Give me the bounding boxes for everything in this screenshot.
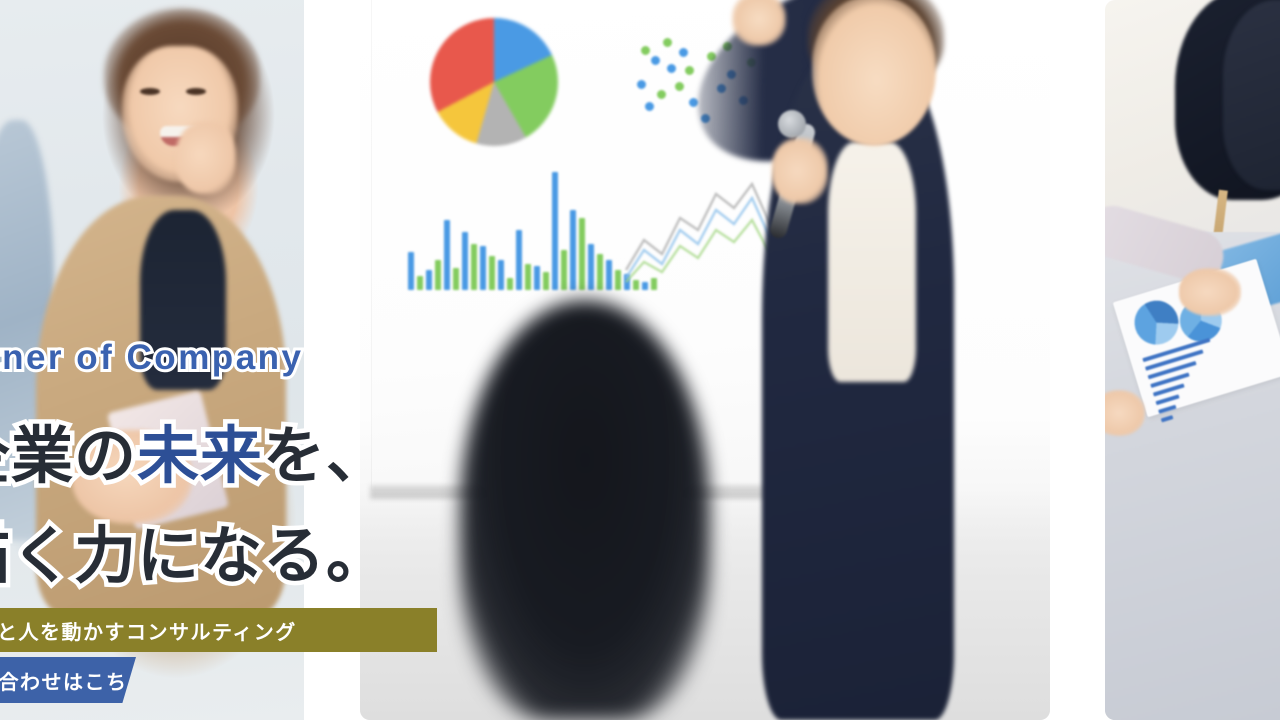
- hero-tagline-band: 経営と人を動かすコンサルティング: [0, 608, 437, 652]
- screen-pie-chart: [430, 18, 558, 146]
- contact-cta-button[interactable]: お問い合わせはこちら: [0, 657, 136, 703]
- hero-headline-line-2: 描く力になる。: [0, 505, 389, 595]
- center-photo-panel: [360, 0, 1050, 720]
- hero-headline-line-1: 企業の未来を、: [0, 405, 389, 495]
- document-pie-chart-left: [1129, 295, 1184, 350]
- left-person-eye-left: [140, 88, 160, 95]
- headline-1-suffix: を、: [263, 422, 389, 491]
- presenter-mic-hand: [772, 138, 828, 204]
- headline-1-accent: 未来: [137, 422, 263, 491]
- participant-hand: [1179, 268, 1241, 316]
- presenter-white-blouse: [828, 142, 916, 382]
- presenter-face: [812, 0, 936, 146]
- right-photo-panel: [1105, 0, 1280, 720]
- hero-tagline-text: 経営と人を動かすコンサルティング: [0, 616, 297, 645]
- left-person-hand: [176, 122, 236, 194]
- audience-member-silhouette: [460, 300, 710, 720]
- presenter-pointing-hand: [732, 0, 786, 46]
- left-person-eye-right: [186, 88, 206, 95]
- headline-1-prefix: 企業の: [0, 422, 137, 491]
- screen-bar-chart: [408, 160, 657, 290]
- headline-2-suffix: く力になる。: [11, 522, 389, 591]
- hero-banner: Partner of Company 企業の未来を、 描く力になる。 経営と人を…: [0, 0, 1280, 720]
- headline-2-prefix: 描: [0, 522, 11, 591]
- hero-eyebrow: Partner of Company: [0, 338, 304, 378]
- microphone-head: [778, 110, 806, 138]
